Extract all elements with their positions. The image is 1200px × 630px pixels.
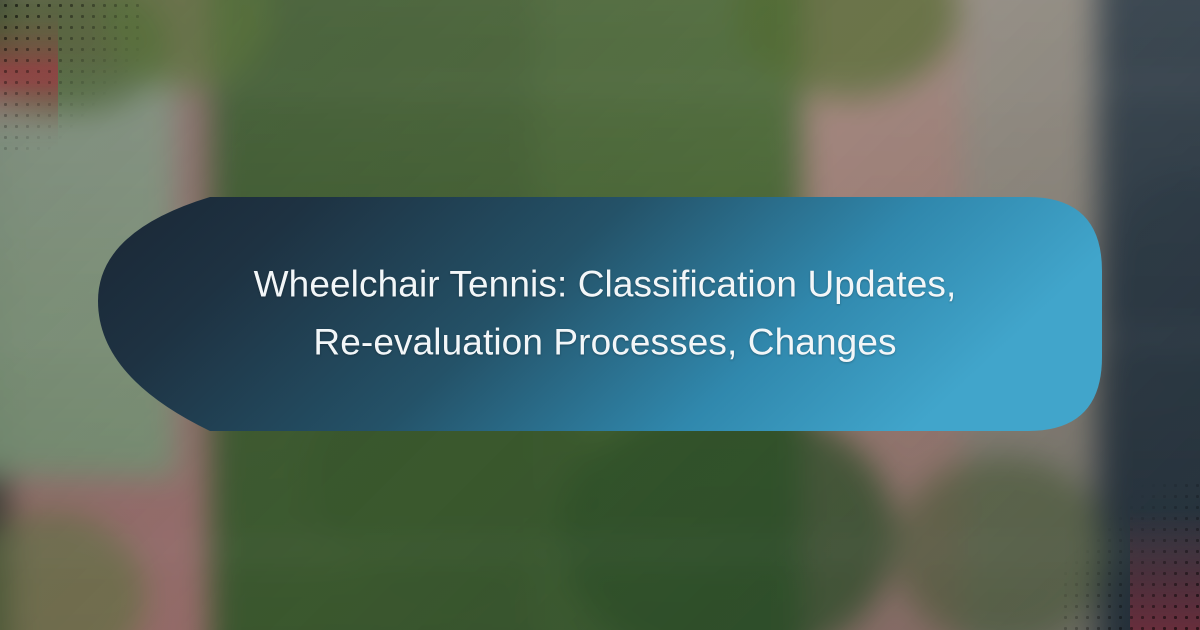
bottom-right-dot-pattern: [1060, 480, 1200, 630]
page-title: Wheelchair Tennis: Classification Update…: [98, 256, 1102, 373]
share-card: Wheelchair Tennis: Classification Update…: [0, 0, 1200, 630]
top-left-dot-pattern: [0, 0, 140, 150]
title-banner: Wheelchair Tennis: Classification Update…: [98, 197, 1102, 431]
